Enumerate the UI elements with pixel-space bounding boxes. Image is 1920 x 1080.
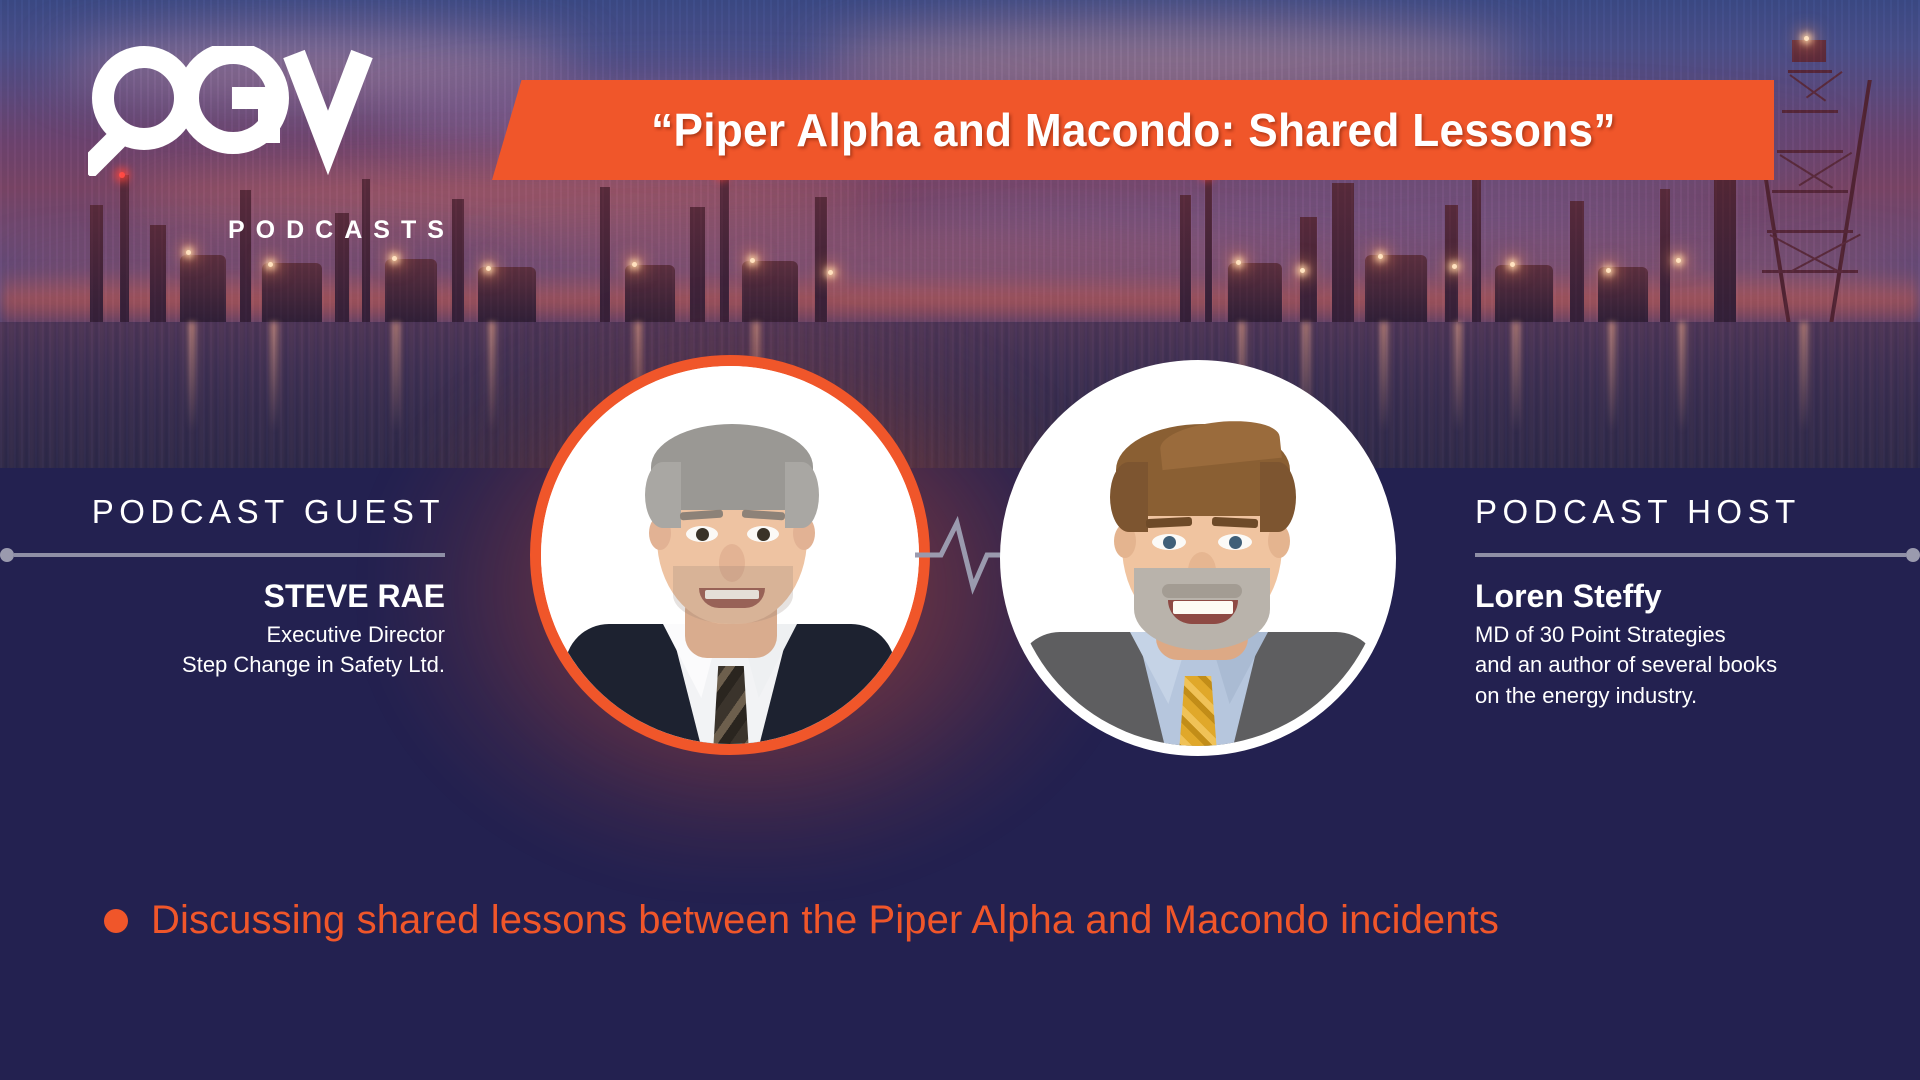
- guest-kicker: PODCAST GUEST: [0, 495, 445, 528]
- bullet-dot-icon: [104, 909, 128, 933]
- guest-organisation: Step Change in Safety Ltd.: [0, 650, 445, 680]
- guest-divider-rule: [0, 548, 445, 562]
- host-info-block: PODCAST HOST Loren Steffy MD of 30 Point…: [1450, 495, 1920, 711]
- ogv-podcasts-logo[interactable]: PODCASTS: [88, 46, 418, 196]
- ogv-wordmark-icon: [88, 46, 418, 176]
- footer-bullet-row: Discussing shared lessons between the Pi…: [104, 898, 1499, 943]
- guest-name: STEVE RAE: [0, 578, 445, 615]
- host-name: Loren Steffy: [1475, 578, 1920, 615]
- host-headshot-image: [1010, 370, 1386, 746]
- rule-line: [1475, 553, 1906, 557]
- episode-title-banner: “Piper Alpha and Macondo: Shared Lessons…: [492, 80, 1774, 180]
- host-desc-line-1: MD of 30 Point Strategies: [1475, 620, 1920, 650]
- guest-headshot-image: [541, 366, 919, 744]
- host-divider-rule: [1475, 548, 1920, 562]
- episode-title: “Piper Alpha and Macondo: Shared Lessons…: [651, 103, 1616, 157]
- podcast-promo-canvas: PODCASTS “Piper Alpha and Macondo: Share…: [0, 0, 1920, 1080]
- host-kicker: PODCAST HOST: [1475, 495, 1920, 528]
- logo-subtitle: PODCASTS: [228, 216, 455, 245]
- guest-portrait[interactable]: [530, 355, 930, 755]
- rule-line: [14, 553, 445, 557]
- guest-info-block: PODCAST GUEST STEVE RAE Executive Direct…: [0, 495, 470, 681]
- host-desc-line-3: on the energy industry.: [1475, 681, 1920, 711]
- guest-role: Executive Director: [0, 620, 445, 650]
- rule-dot-icon: [1906, 548, 1920, 562]
- footer-bullet-text: Discussing shared lessons between the Pi…: [151, 898, 1499, 943]
- host-desc-line-2: and an author of several books: [1475, 650, 1920, 680]
- host-portrait[interactable]: [1000, 360, 1396, 756]
- rule-dot-icon: [0, 548, 14, 562]
